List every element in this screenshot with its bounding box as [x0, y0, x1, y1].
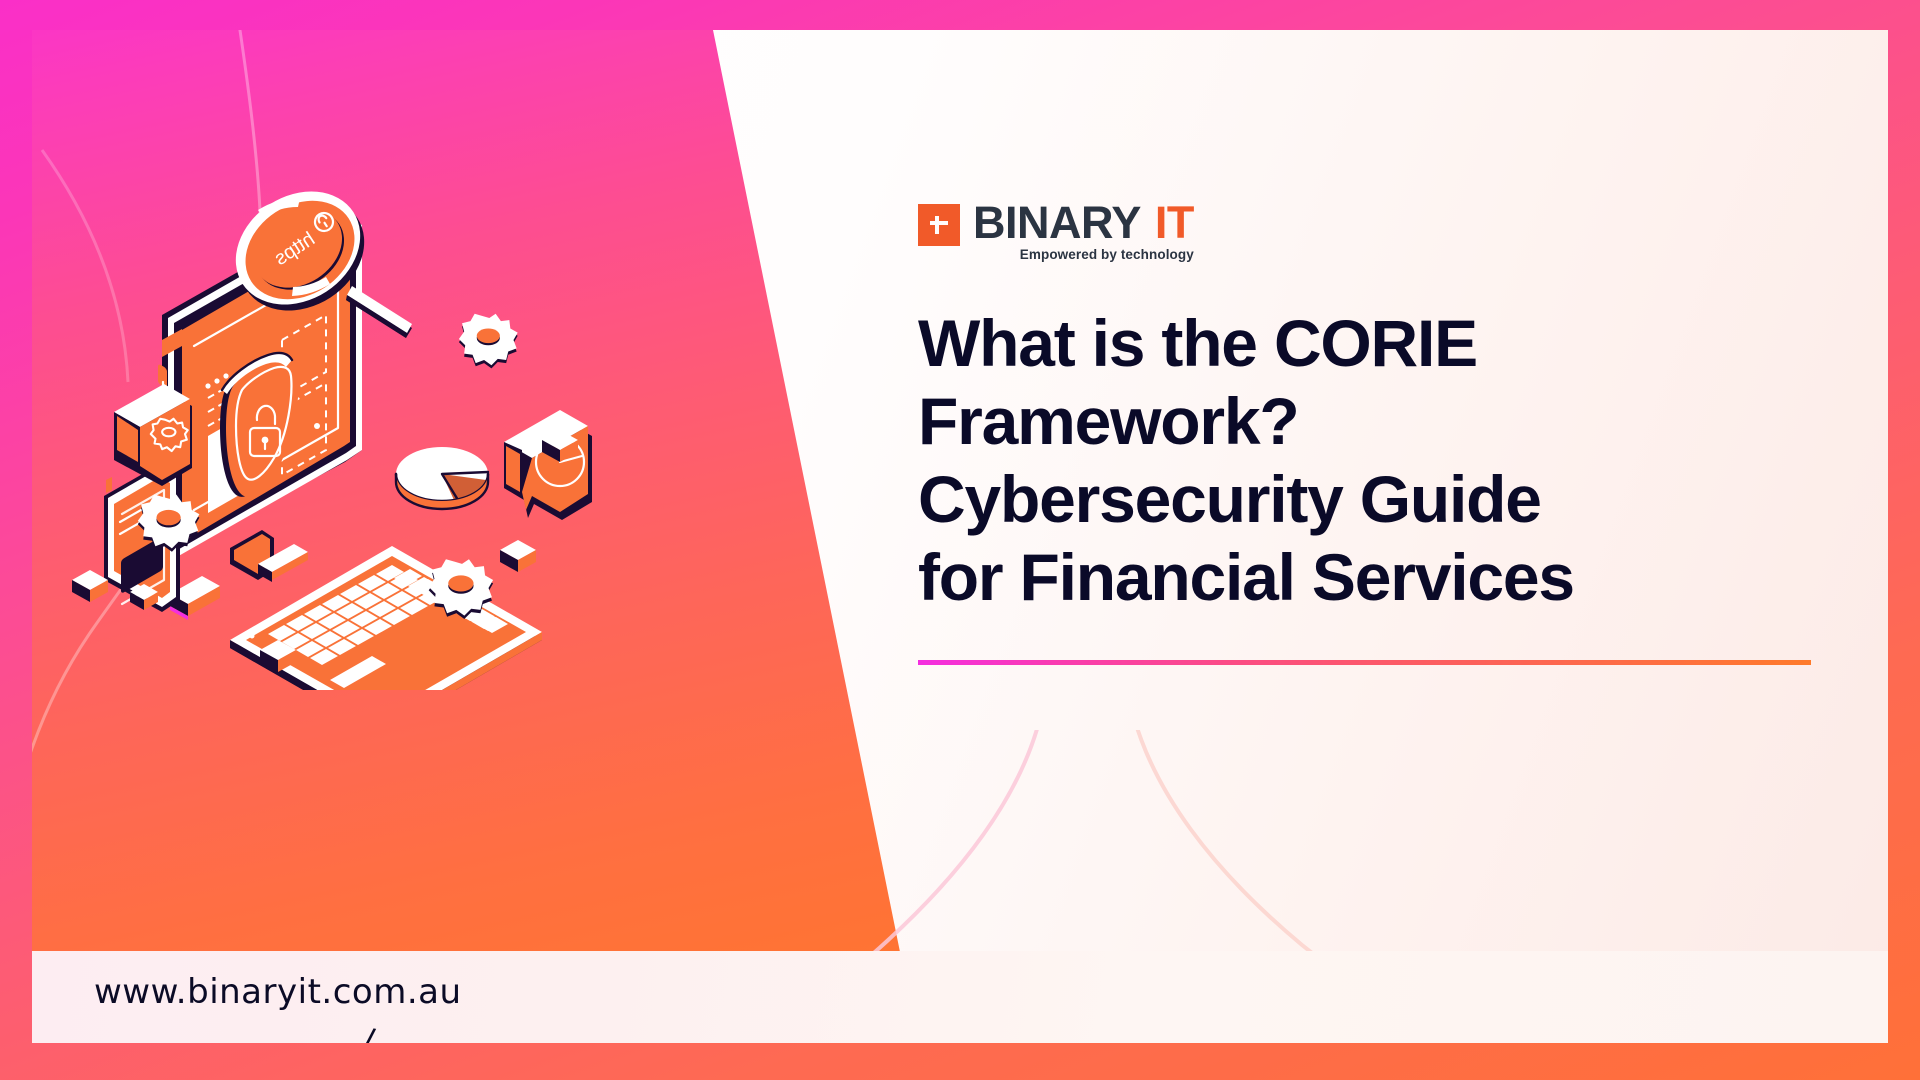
headline-line-2: Framework?	[918, 382, 1618, 460]
social-banner: .nv{fill:#1A0B33} .or{fill:#F97238} .ol{…	[0, 0, 1920, 1080]
page-title: What is the CORIE Framework? Cybersecuri…	[918, 304, 1618, 616]
content-column: BINARYIT Empowered by technology What is…	[918, 200, 1828, 665]
content-card: .nv{fill:#1A0B33} .or{fill:#F97238} .ol{…	[32, 30, 1888, 1043]
website-url[interactable]: www.binaryit.com.au	[94, 972, 462, 1012]
logo-title: BINARYIT	[973, 200, 1194, 246]
logo-title-it: IT	[1155, 197, 1194, 248]
gradient-rule	[918, 660, 1811, 665]
headline-line-1: What is the CORIE	[918, 304, 1618, 382]
logo-tagline: Empowered by technology	[973, 247, 1194, 262]
pie-chart	[396, 447, 488, 509]
four-square-plus-icon	[918, 204, 960, 246]
speech-bubble-chart	[504, 410, 592, 520]
headline-line-3: Cybersecurity Guide	[918, 460, 1618, 538]
logo-wordmark: BINARYIT Empowered by technology	[973, 200, 1194, 262]
isometric-cybersecurity-illustration: .nv{fill:#1A0B33} .or{fill:#F97238} .ol{…	[62, 150, 662, 690]
headline-line-4: for Financial Services	[918, 538, 1618, 616]
logo-title-binary: BINARY	[973, 197, 1141, 248]
book	[114, 384, 192, 486]
brand-logo[interactable]: BINARYIT Empowered by technology	[918, 200, 1828, 262]
